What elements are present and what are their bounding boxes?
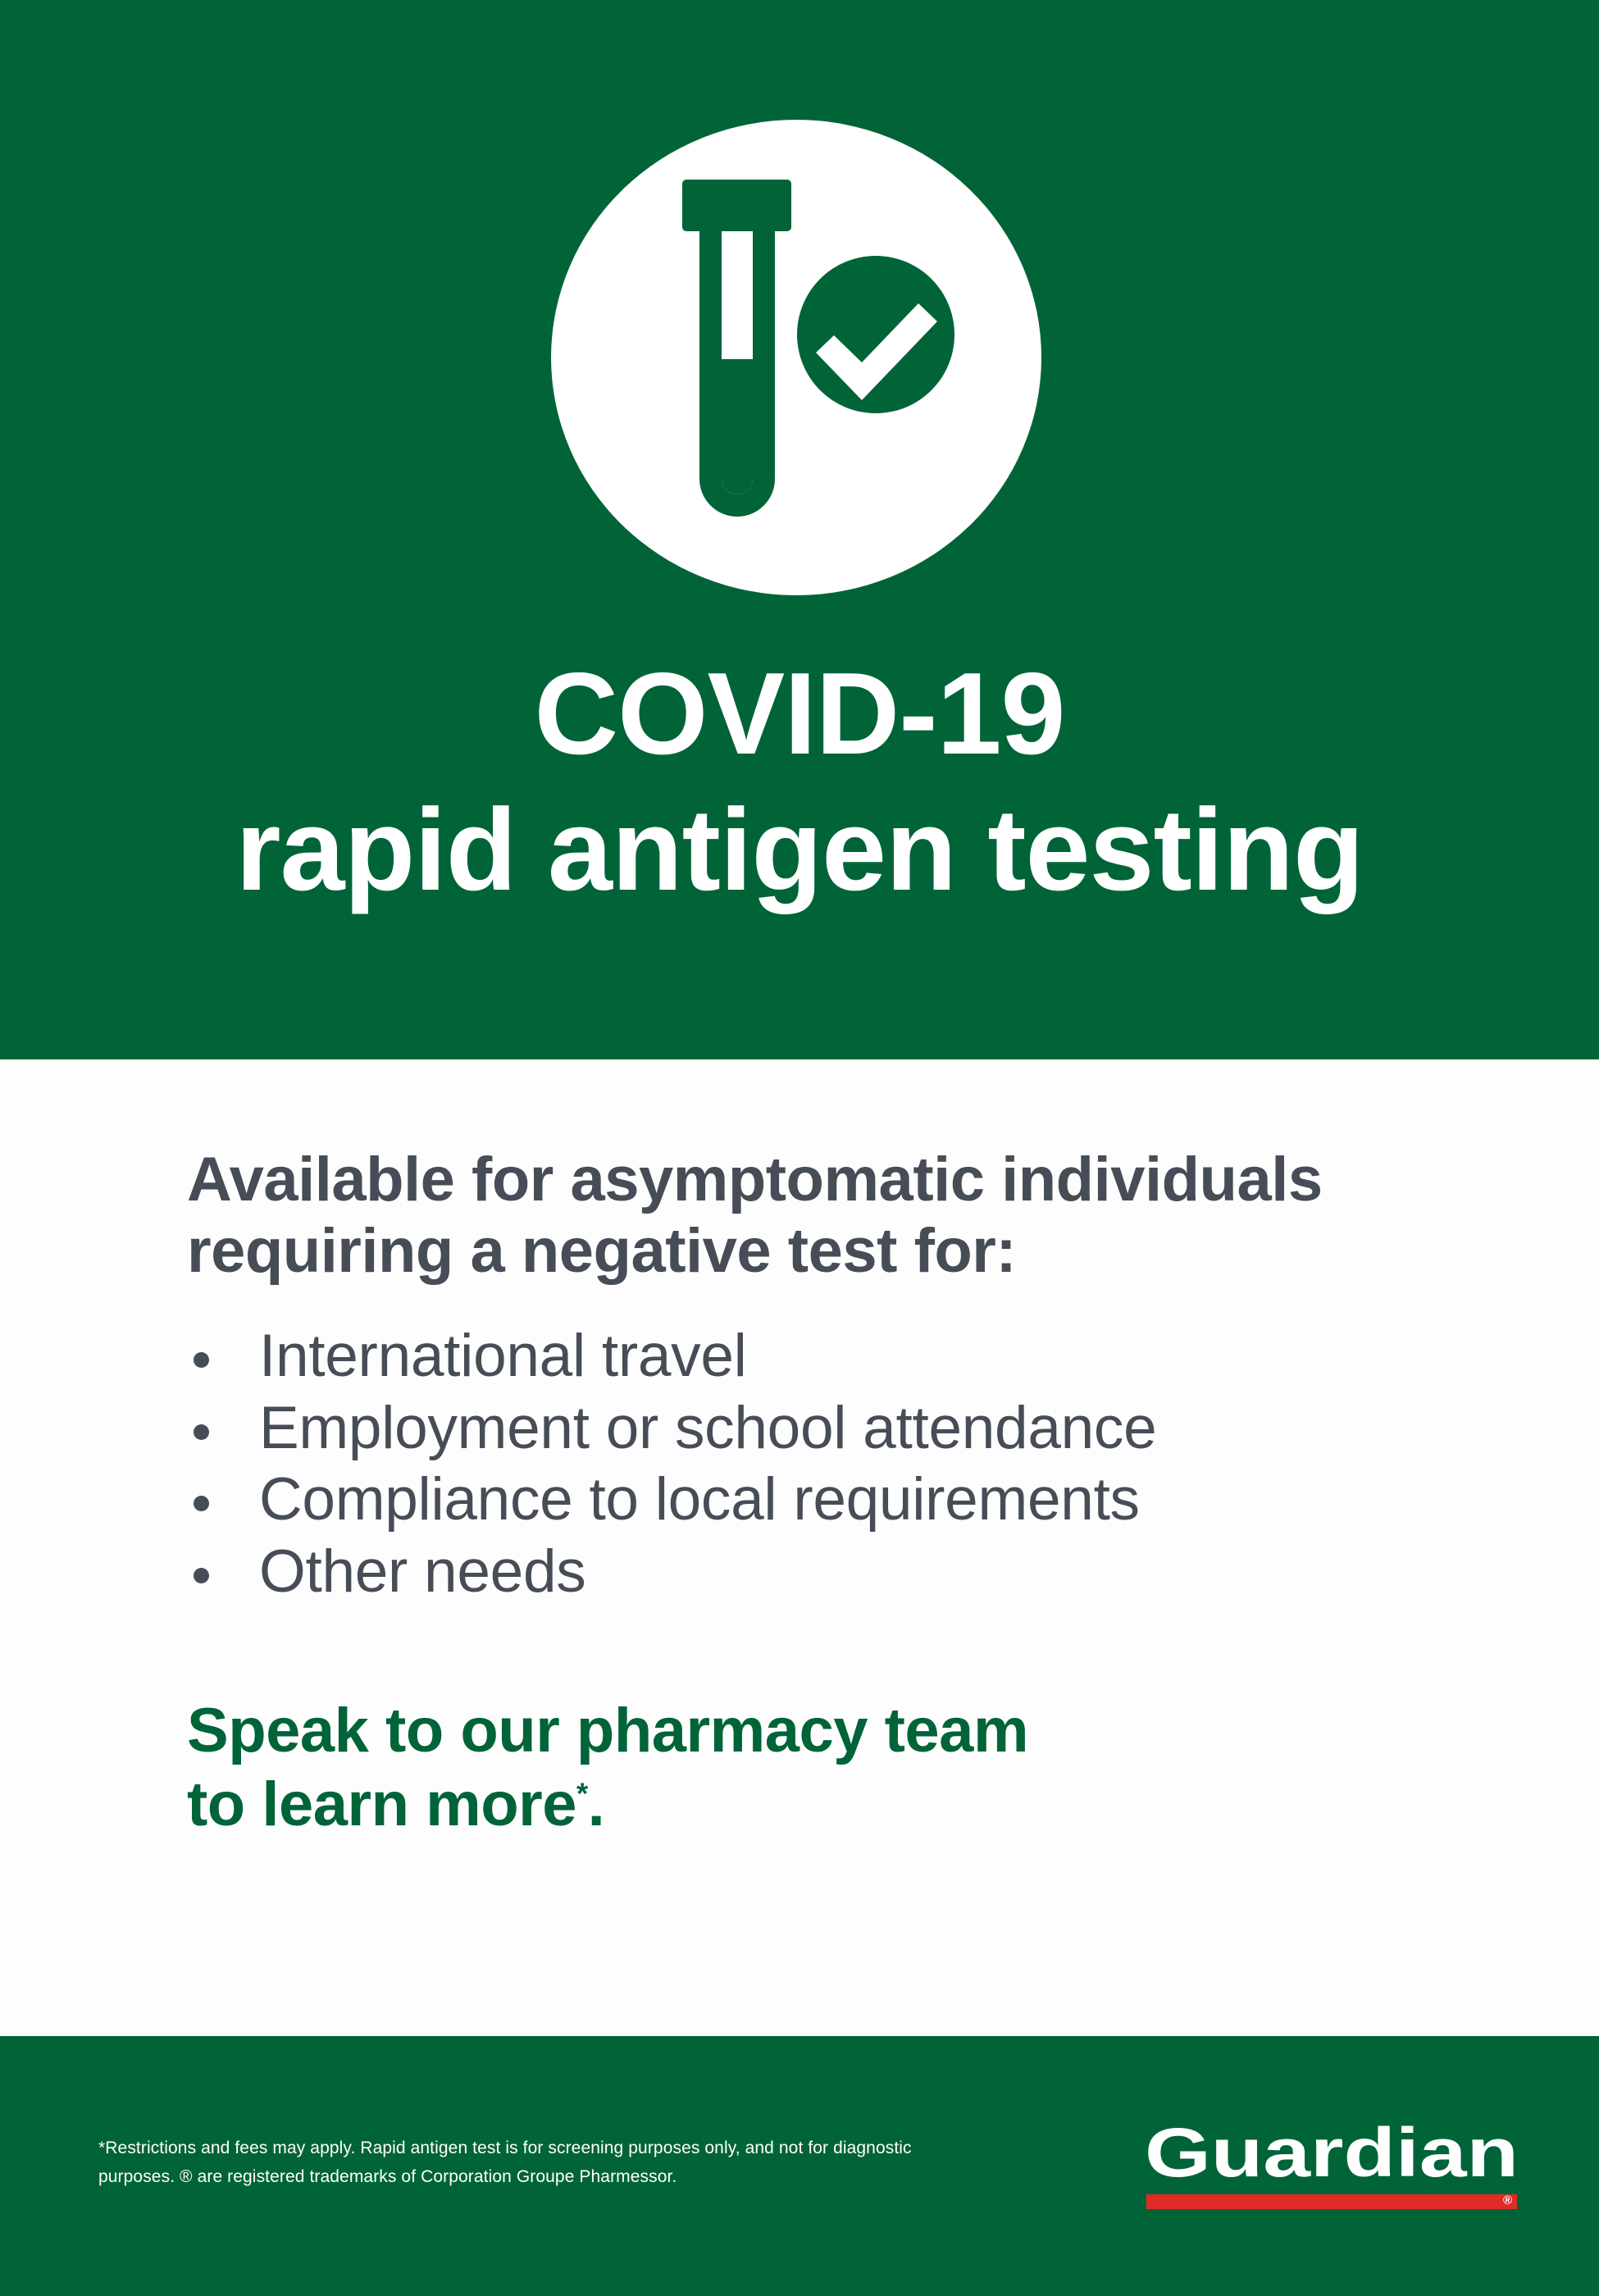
cta-period: . — [588, 1770, 605, 1839]
list-item: Employment or school attendance — [187, 1395, 1515, 1462]
call-to-action: Speak to our pharmacy team to learn more… — [187, 1694, 1515, 1841]
bullet-dot-icon — [194, 1568, 209, 1583]
header-band: COVID-19 rapid antigen testing — [0, 0, 1599, 1059]
registered-trademark-icon: ® — [1503, 2193, 1512, 2209]
list-item: Other needs — [187, 1538, 1515, 1606]
bullet-dot-icon — [194, 1424, 209, 1440]
body-band: Available for asymptomatic individuals r… — [0, 1059, 1599, 2036]
title-line-1: COVID-19 — [0, 656, 1599, 772]
cta-footnote-marker: * — [576, 1777, 588, 1811]
svg-text:Guardian: Guardian — [1145, 2119, 1519, 2189]
list-item-label: Employment or school attendance — [259, 1395, 1156, 1461]
test-tube-check-icon — [551, 120, 1041, 595]
logo-wordmark: Guardian — [1145, 2119, 1519, 2189]
poster-title: COVID-19 rapid antigen testing — [0, 656, 1599, 909]
bullet-dot-icon — [194, 1496, 209, 1511]
list-item-label: Compliance to local requirements — [259, 1466, 1140, 1533]
lead-line-1: Available for asymptomatic individuals — [187, 1145, 1515, 1216]
cta-line-2: to learn more*. — [187, 1768, 1515, 1842]
list-item-label: Other needs — [259, 1538, 585, 1605]
logo-red-bar — [1146, 2194, 1517, 2209]
poster: COVID-19 rapid antigen testing Available… — [0, 0, 1599, 2296]
cta-line-1: Speak to our pharmacy team — [187, 1694, 1515, 1768]
bullet-dot-icon — [194, 1352, 209, 1368]
body-content: Available for asymptomatic individuals r… — [187, 1145, 1515, 1842]
lead-paragraph: Available for asymptomatic individuals r… — [187, 1145, 1515, 1287]
disclaimer-text: *Restrictions and fees may apply. Rapid … — [98, 2134, 935, 2191]
list-item: Compliance to local requirements — [187, 1466, 1515, 1533]
title-line-2: rapid antigen testing — [0, 792, 1599, 909]
lead-line-2: requiring a negative test for: — [187, 1216, 1515, 1287]
guardian-logo: Guardian ® — [1145, 2122, 1519, 2212]
list-item: International travel — [187, 1323, 1515, 1390]
eligibility-list: International travel Employment or schoo… — [187, 1323, 1515, 1606]
cta-line-2-text: to learn more — [187, 1770, 576, 1839]
footer-band: *Restrictions and fees may apply. Rapid … — [0, 2036, 1599, 2296]
list-item-label: International travel — [259, 1323, 747, 1389]
